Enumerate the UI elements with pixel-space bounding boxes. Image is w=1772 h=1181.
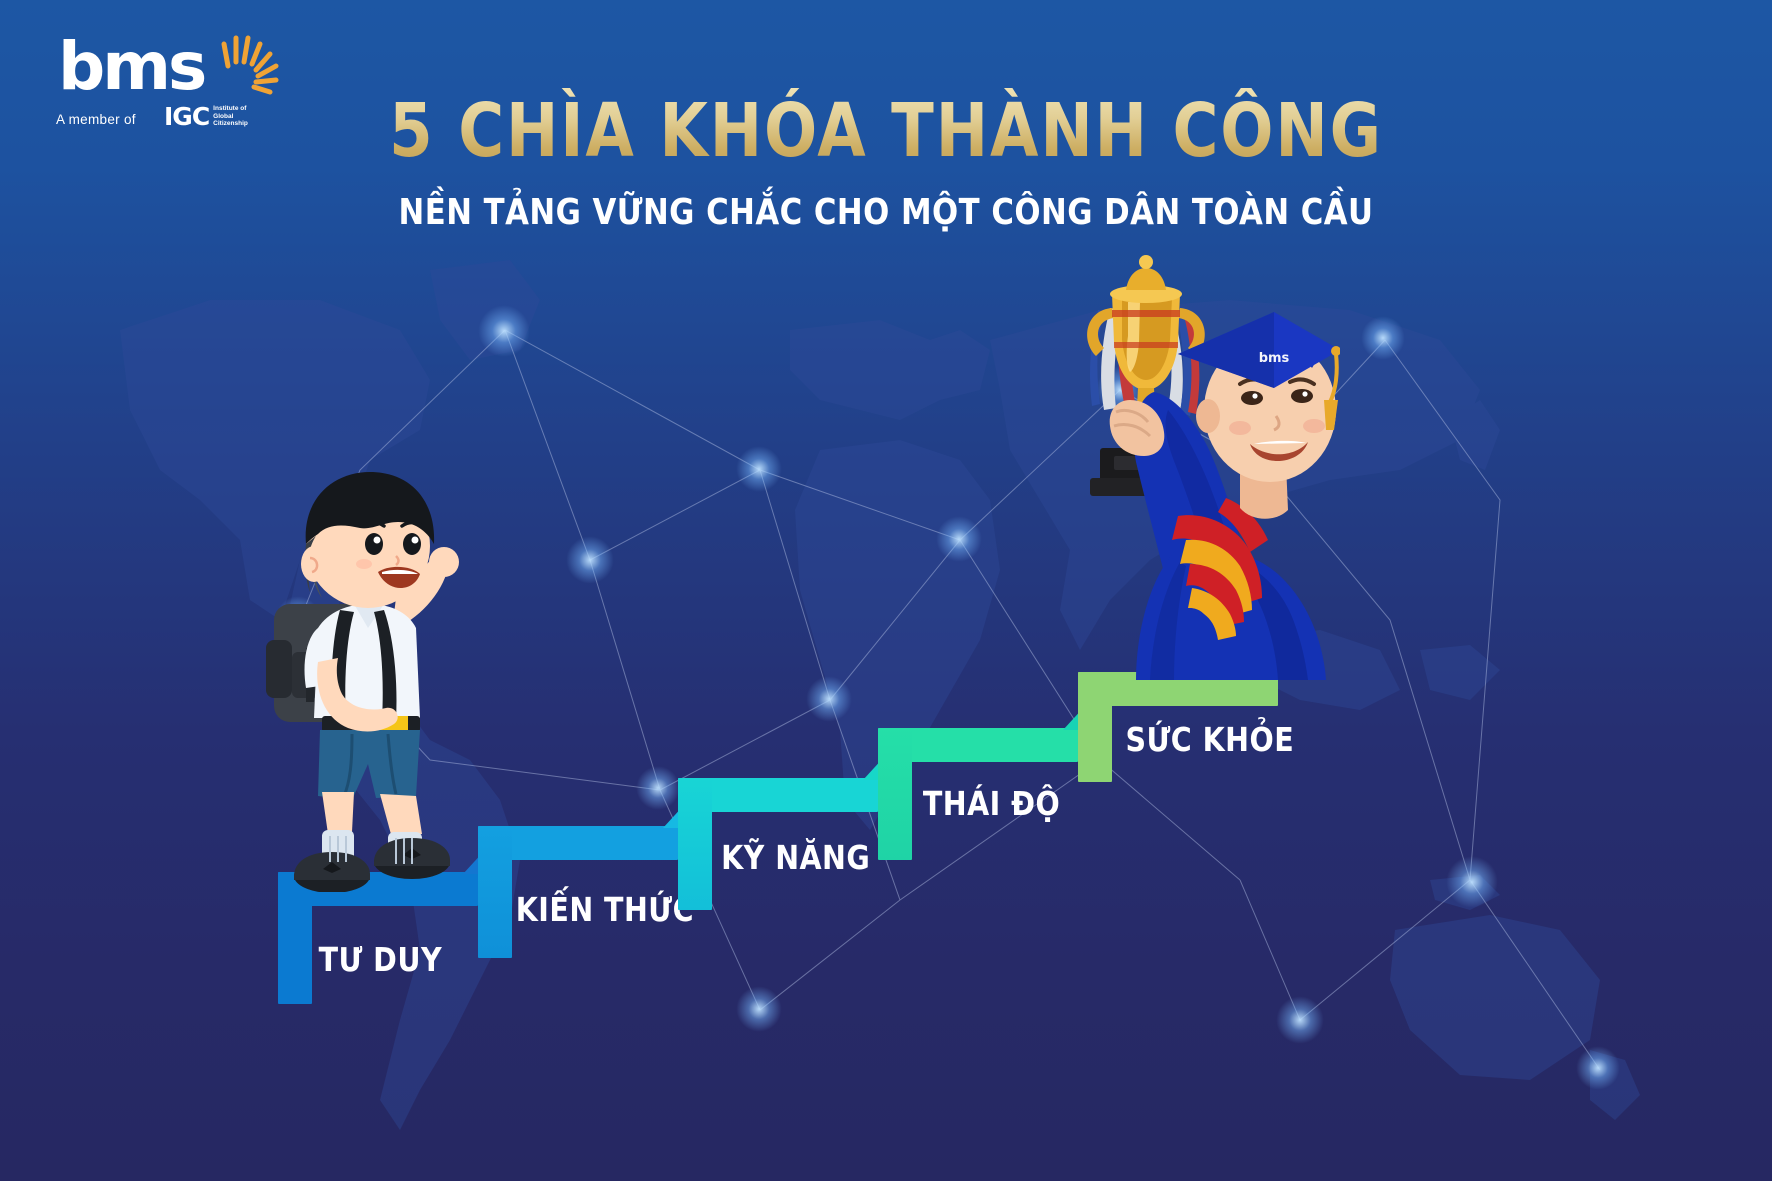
step-4-leg [878,728,912,860]
step-5-label: SỨC KHỎE [1126,720,1295,759]
step-4[interactable]: THÁI ĐỘ [878,728,1078,860]
cap-logo-text: bms [1259,351,1290,366]
infographic-canvas: bms A member of IGC Institute of Global … [0,0,1772,1181]
step-4-label: THÁI ĐỘ [923,784,1060,823]
page-subtitle: NỀN TẢNG VỮNG CHẮC CHO MỘT CÔNG DÂN TOÀN… [44,192,1727,233]
step-3-leg [678,778,712,910]
step-3-label: KỸ NĂNG [721,838,870,877]
step-3[interactable]: KỸ NĂNG [678,778,878,910]
step-2[interactable]: KIẾN THỨC [478,826,678,958]
step-2-label: KIẾN THỨC [516,890,694,929]
step-1-label: TƯ DUY [319,940,442,979]
step-5[interactable]: SỨC KHỎE [1078,672,1278,782]
graduate-child-with-trophy-photo: bms [940,250,1340,680]
page-title: 5 CHÌA KHÓA THÀNH CÔNG [53,88,1719,174]
schoolboy-with-backpack-illustration [236,452,486,892]
step-5-leg [1078,672,1112,782]
